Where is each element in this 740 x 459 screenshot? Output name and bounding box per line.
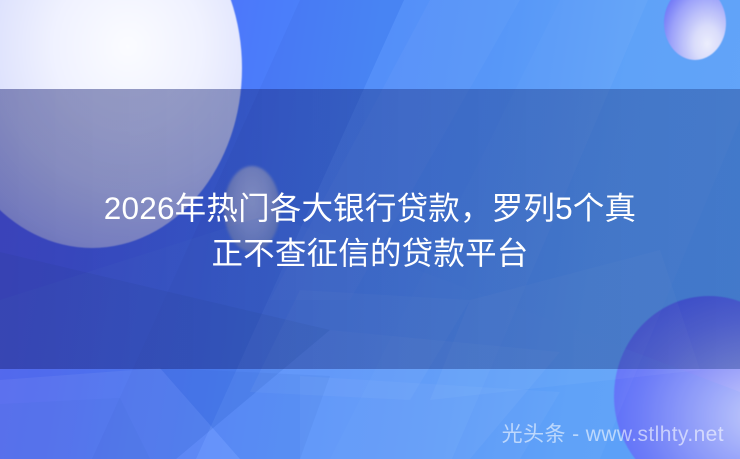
promo-banner: 2026年热门各大银行贷款，罗列5个真 正不查征信的贷款平台 光头条 - www… bbox=[0, 0, 740, 459]
page-title: 2026年热门各大银行贷款，罗列5个真 正不查征信的贷款平台 bbox=[0, 186, 740, 276]
title-line-2: 正不查征信的贷款平台 bbox=[18, 231, 722, 276]
title-line-1: 2026年热门各大银行贷款，罗列5个真 bbox=[18, 186, 722, 231]
site-watermark: 光头条 - www.stlhty.net bbox=[502, 421, 724, 449]
